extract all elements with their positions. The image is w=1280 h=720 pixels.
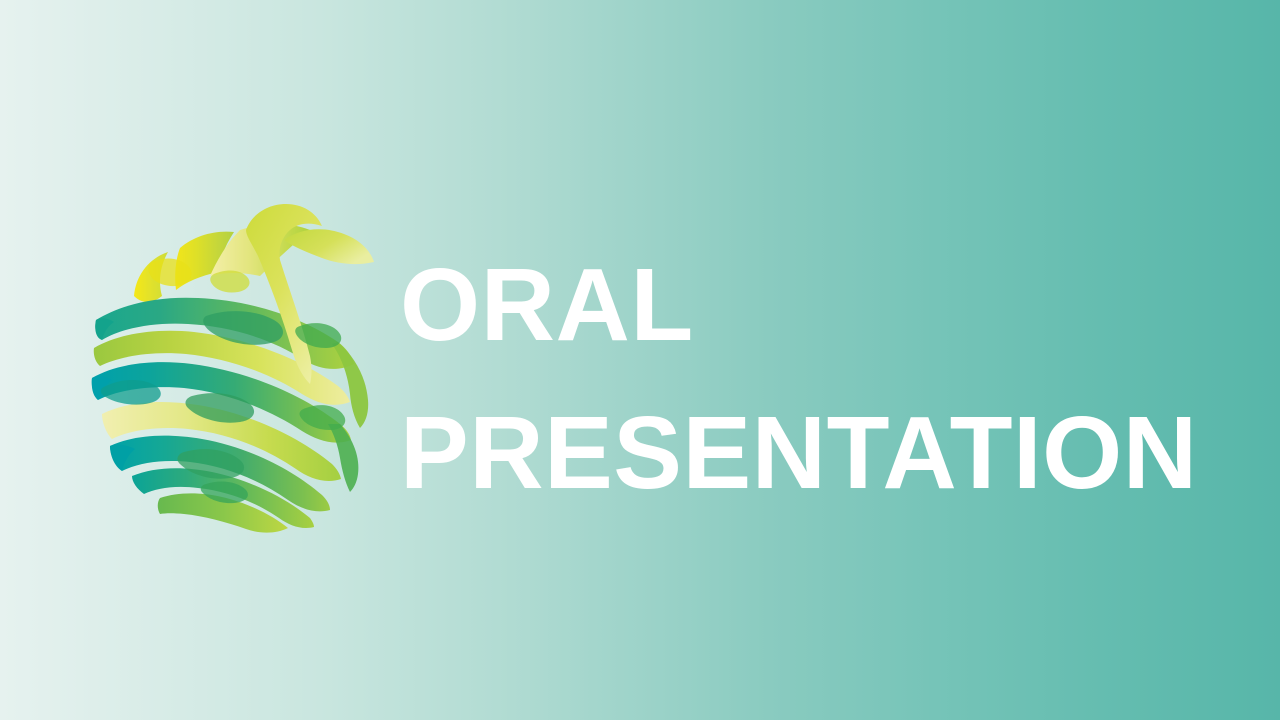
title-line-presentation: PRESENTATION bbox=[400, 379, 1200, 527]
spiral-ribbon-globe-leaf-logo bbox=[88, 200, 388, 520]
land-upper-right bbox=[210, 271, 249, 293]
title-block: ORAL PRESENTATION bbox=[400, 231, 1200, 527]
title-slide: ORAL PRESENTATION bbox=[0, 0, 1280, 720]
leaf-blade bbox=[284, 229, 374, 264]
title-line-oral: ORAL bbox=[400, 231, 1200, 379]
